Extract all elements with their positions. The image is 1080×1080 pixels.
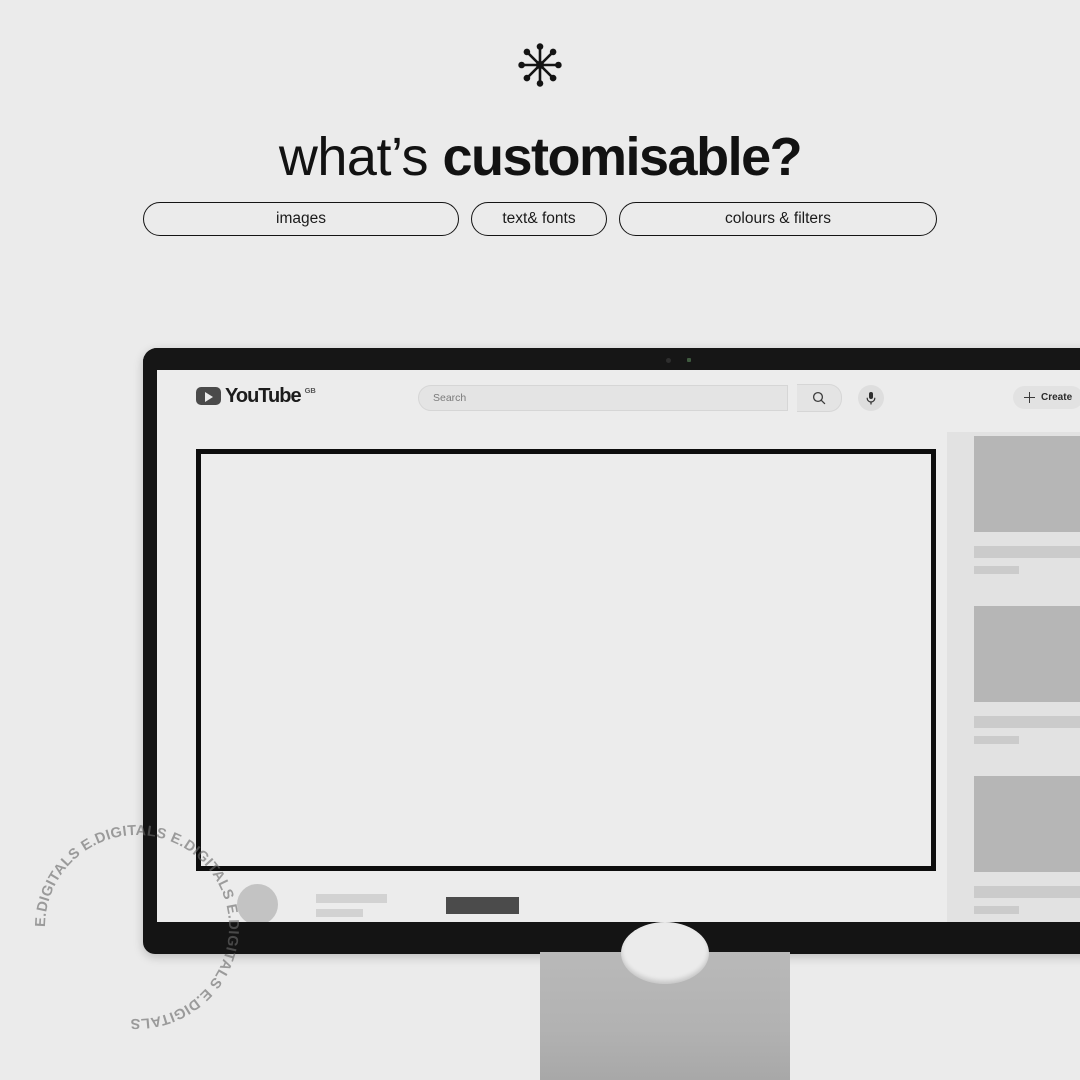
monitor-stand <box>540 952 790 1080</box>
youtube-play-icon <box>196 387 221 405</box>
video-title-bar <box>974 546 1080 558</box>
headline-light: what’s <box>279 127 443 187</box>
voice-search-button[interactable] <box>858 385 884 411</box>
monitor-screen: YouTube GB Search <box>157 370 1080 922</box>
webcam-dot-icon <box>666 358 671 363</box>
create-button-label: Create <box>1041 392 1072 403</box>
promo-section: what’s customisable? images text& fonts … <box>0 0 1080 340</box>
monitor-device: YouTube GB Search <box>143 348 1080 954</box>
video-meta-bar <box>974 736 1019 744</box>
plus-icon <box>1024 392 1035 403</box>
channel-name-placeholder <box>316 909 363 917</box>
asterisk-burst-icon <box>517 42 563 88</box>
video-thumbnail <box>974 606 1080 702</box>
pill-colours-filters-label: colours & filters <box>725 210 831 228</box>
video-meta-bar <box>974 566 1019 574</box>
channel-avatar[interactable] <box>237 884 278 922</box>
video-meta-row <box>196 882 936 922</box>
video-thumbnail <box>974 776 1080 872</box>
search-input[interactable]: Search <box>418 385 788 411</box>
recommendations-sidebar <box>947 432 1080 922</box>
list-item[interactable] <box>974 606 1080 744</box>
search-button[interactable] <box>797 384 842 412</box>
youtube-logo-region: GB <box>305 386 316 395</box>
monitor-top-bezel <box>143 348 1080 370</box>
microphone-icon <box>865 391 877 405</box>
pill-images[interactable]: images <box>143 202 459 236</box>
list-item[interactable] <box>974 436 1080 574</box>
video-meta-bar <box>974 906 1019 914</box>
list-item[interactable] <box>974 776 1080 914</box>
video-title-bar <box>974 716 1080 728</box>
search-icon <box>812 391 826 405</box>
burst-icon-wrap <box>0 42 1080 88</box>
youtube-header: YouTube GB Search <box>157 370 1080 422</box>
pill-text-fonts[interactable]: text& fonts <box>471 202 607 236</box>
video-thumbnail <box>974 436 1080 532</box>
pill-colours-filters[interactable]: colours & filters <box>619 202 937 236</box>
search-group: Search <box>418 384 884 412</box>
youtube-logo[interactable]: YouTube GB <box>196 385 316 407</box>
page-title: what’s customisable? <box>0 124 1080 190</box>
subscribe-button[interactable] <box>446 897 519 914</box>
pill-text-fonts-label: text& fonts <box>502 210 575 228</box>
pill-images-label: images <box>276 210 326 228</box>
pill-row: images text& fonts colours & filters <box>0 202 1080 236</box>
video-title-placeholder <box>316 894 387 903</box>
youtube-logo-text: YouTube <box>225 385 301 407</box>
stand-notch <box>621 922 709 984</box>
camera-led-icon <box>687 358 691 362</box>
create-button[interactable]: Create <box>1013 386 1080 409</box>
video-title-bar <box>974 886 1080 898</box>
headline-heavy: customisable? <box>442 127 801 187</box>
video-player[interactable] <box>196 449 936 871</box>
